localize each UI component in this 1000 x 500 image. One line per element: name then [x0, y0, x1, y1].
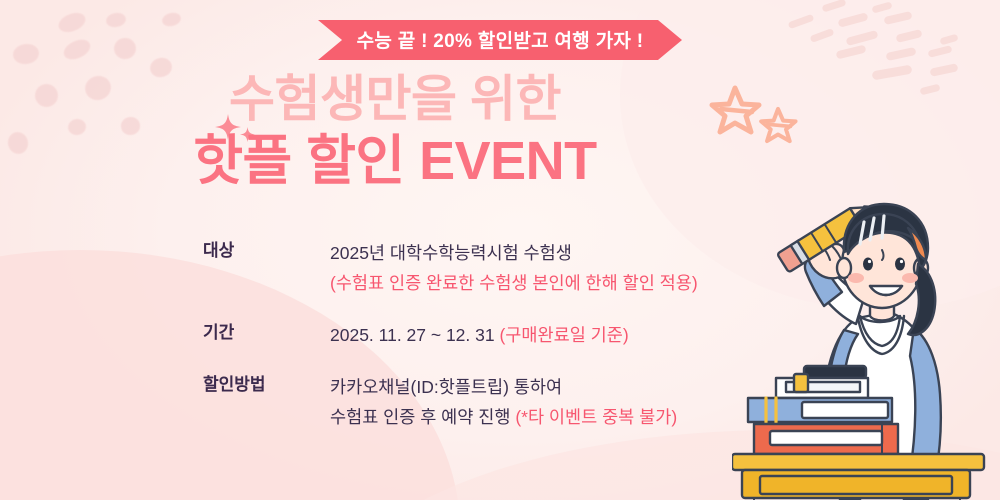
detail-row-values: 카카오채널(ID:핫플트립) 통하여 수험표 인증 후 예약 진행 (*타 이벤… — [330, 372, 773, 432]
detail-row-values: 2025. 11. 27 ~ 12. 31 (구매완료일 기준) — [330, 320, 773, 350]
detail-row: 대상 2025년 대학수학능력시험 수험생 (수험표 인증 완료한 수험생 본인… — [203, 238, 773, 298]
headline-line-2: 핫플 할인 EVENT — [0, 130, 790, 192]
detail-value-line: 2025년 대학수학능력시험 수험생 — [330, 238, 773, 268]
detail-value-main: 수험표 인증 후 예약 진행 — [330, 407, 515, 427]
star-icon — [708, 84, 762, 136]
detail-value-line: 카카오채널(ID:핫플트립) 통하여 — [330, 372, 773, 402]
detail-value-main: 2025. 11. 27 ~ 12. 31 — [330, 325, 499, 345]
detail-row: 할인방법 카카오채널(ID:핫플트립) 통하여 수험표 인증 후 예약 진행 (… — [203, 372, 773, 432]
detail-value-line: 2025. 11. 27 ~ 12. 31 (구매완료일 기준) — [330, 320, 773, 350]
detail-value-accent: (수험표 인증 완료한 수험생 본인에 한해 할인 적용) — [330, 273, 698, 293]
detail-value-accent: (*타 이벤트 중복 불가) — [515, 407, 677, 427]
detail-row-label: 할인방법 — [203, 372, 330, 398]
headline-line-1: 수험생만을 위한 — [0, 70, 790, 128]
detail-row-label: 기간 — [203, 320, 330, 346]
detail-value-line: (수험표 인증 완료한 수험생 본인에 한해 할인 적용) — [330, 268, 773, 298]
student-illustration — [732, 188, 1000, 500]
details-list: 대상 2025년 대학수학능력시험 수험생 (수험표 인증 완료한 수험생 본인… — [203, 238, 773, 432]
promo-banner: 수능 끝 ! 20% 할인받고 여행 가자 ! 수험생만을 위한 핫플 할인 E… — [0, 0, 1000, 500]
headline-block: 수험생만을 위한 핫플 할인 EVENT — [0, 70, 790, 192]
detail-value-line: 수험표 인증 후 예약 진행 (*타 이벤트 중복 불가) — [330, 402, 773, 432]
detail-row-label: 대상 — [203, 238, 330, 264]
detail-row-values: 2025년 대학수학능력시험 수험생 (수험표 인증 완료한 수험생 본인에 한… — [330, 238, 773, 298]
ribbon-text: 수능 끝 ! 20% 할인받고 여행 가자 ! — [318, 20, 682, 60]
star-icon — [758, 106, 798, 144]
detail-value-main: 2025년 대학수학능력시험 수험생 — [330, 243, 572, 263]
detail-row: 기간 2025. 11. 27 ~ 12. 31 (구매완료일 기준) — [203, 320, 773, 350]
promo-ribbon: 수능 끝 ! 20% 할인받고 여행 가자 ! — [318, 20, 682, 60]
detail-value-main: 카카오채널(ID:핫플트립) 통하여 — [330, 377, 562, 397]
detail-value-accent: (구매완료일 기준) — [499, 325, 628, 345]
